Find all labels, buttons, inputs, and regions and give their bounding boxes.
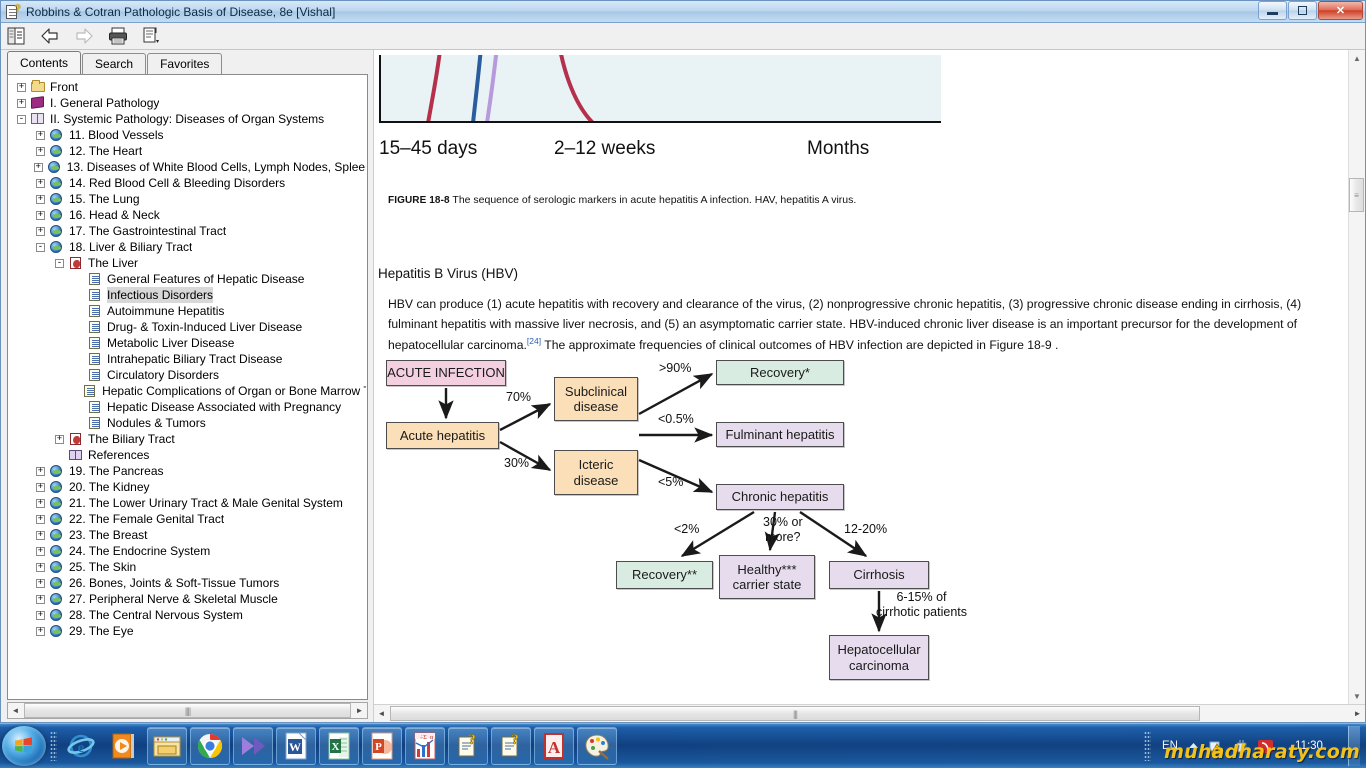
toc-node-label: Front [50, 79, 78, 95]
toc-node-label: 26. Bones, Joints & Soft-Tissue Tumors [69, 575, 279, 591]
taskbar-powerpoint[interactable]: P [362, 727, 402, 765]
toc-expand-icon[interactable]: + [36, 131, 45, 140]
chapter-globe-icon [49, 224, 65, 238]
toc-node[interactable]: Circulatory Disorders [9, 367, 366, 383]
start-button[interactable] [2, 726, 46, 766]
toc-expand-icon[interactable]: + [36, 195, 45, 204]
forward-arrow-icon[interactable] [73, 25, 95, 47]
system-tray: EN 11:30 [1140, 726, 1366, 766]
flow-edge-label-pct-gt90: >90% [659, 361, 691, 376]
toc-node-label: 11. Blood Vessels [69, 127, 164, 143]
toc-node-label: 22. The Female Genital Tract [69, 511, 224, 527]
toc-expand-icon[interactable]: + [36, 563, 45, 572]
svg-text:A: A [548, 738, 561, 757]
toc-collapse-icon[interactable]: - [36, 243, 45, 252]
chapter-globe-icon [49, 176, 65, 190]
toc-node-label: Hepatic Complications of Organ or Bone M… [102, 383, 366, 399]
toc-node[interactable]: Autoimmune Hepatitis [9, 303, 366, 319]
restore-button[interactable] [1288, 1, 1317, 20]
topic-page-icon [87, 352, 103, 366]
tab-search-label: Search [95, 57, 133, 71]
tab-favorites[interactable]: Favorites [147, 53, 222, 74]
chapter-globe-icon [49, 496, 65, 510]
toc-node[interactable]: +29. The Eye [9, 623, 366, 639]
toc-node[interactable]: +11. Blood Vessels [9, 127, 366, 143]
toc-node-label: 15. The Lung [69, 191, 140, 207]
liver-icon [68, 432, 84, 446]
svg-text:P: P [375, 741, 382, 753]
flow-edge-label-pct-6-15: 6-15% of cirrhotic patients [876, 590, 967, 620]
toc-node-label: II. Systemic Pathology: Diseases of Orga… [50, 111, 324, 127]
flow-node-acute-hepatitis: Acute hepatitis [386, 422, 499, 449]
timeline-label-2: 2–12 weeks [554, 138, 655, 160]
toc-node-label: 19. The Pancreas [69, 463, 164, 479]
toc-expand-icon[interactable]: + [36, 147, 45, 156]
toc-node[interactable]: +21. The Lower Urinary Tract & Male Geni… [9, 495, 366, 511]
toc-node[interactable]: +25. The Skin [9, 559, 366, 575]
toc-expand-icon[interactable]: + [36, 499, 45, 508]
toc-expand-icon[interactable]: + [36, 227, 45, 236]
taskbar-word[interactable]: W [276, 727, 316, 765]
flow-edge-label-pct-70: 70% [506, 390, 531, 405]
flow-node-label: ACUTE INFECTION [387, 365, 505, 380]
toc-expand-icon[interactable]: + [36, 467, 45, 476]
flow-node-healthy-carrier: Healthy*** carrier state [719, 555, 815, 599]
chapter-globe-icon [49, 544, 65, 558]
doc-scroll-up-icon[interactable]: ▲ [1349, 50, 1365, 66]
toc-node-label: 17. The Gastrointestinal Tract [69, 223, 226, 239]
flow-node-label: Recovery** [632, 567, 697, 582]
toc-node[interactable]: +27. Peripheral Nerve & Skeletal Muscle [9, 591, 366, 607]
flow-node-recovery-1: Recovery* [716, 360, 844, 385]
toc-node-label: Hepatic Disease Associated with Pregnanc… [107, 399, 341, 415]
toc-node-label: Autoimmune Hepatitis [107, 303, 224, 319]
toc-leaf-spacer [74, 339, 83, 348]
flow-edge-label-pct-lt2: <2% [674, 522, 699, 537]
timeline-label-3: Months [807, 138, 869, 160]
folder-icon [30, 80, 46, 94]
figure-18-8-caption: FIGURE 18-8 The sequence of serologic ma… [388, 193, 1248, 209]
toc-node-label: Circulatory Disorders [107, 367, 219, 383]
toc-node-label: 12. The Heart [69, 143, 142, 159]
windows-taskbar: e [0, 723, 1366, 768]
toc-node[interactable]: Hepatic Disease Associated with Pregnanc… [9, 399, 366, 415]
figure-18-8-label: FIGURE 18-8 [388, 195, 450, 206]
options-icon[interactable] [141, 25, 163, 47]
toc-node-label: Drug- & Toxin-Induced Liver Disease [107, 319, 302, 335]
toc-leaf-spacer [74, 419, 83, 428]
timeline-label-1: 15–45 days [379, 138, 477, 160]
toc-tree: +Front+I. General Pathology-II. Systemic… [9, 76, 366, 698]
toc-node[interactable]: General Features of Hepatic Disease [9, 271, 366, 287]
figure-18-8-text: The sequence of serologic markers in acu… [452, 194, 856, 206]
flow-node-fulminant-hepatitis: Fulminant hepatitis [716, 422, 844, 447]
toc-node-label: References [88, 447, 149, 463]
toc-node[interactable]: +19. The Pancreas [9, 463, 366, 479]
toc-expand-icon[interactable]: + [36, 211, 45, 220]
topic-page-icon [82, 384, 98, 398]
chapter-globe-icon [49, 608, 65, 622]
window-body: Contents Search Favorites +Front+I. Gene… [1, 50, 1365, 722]
flow-node-label: Icteric disease [574, 457, 619, 488]
serologic-marker-chart-remnant [379, 55, 941, 123]
toc-node-label: Infectious Disorders [107, 287, 213, 303]
flow-node-label: Fulminant hepatitis [725, 427, 834, 442]
content-pane: 15–45 days 2–12 weeks Months FIGURE 18-8… [373, 50, 1365, 722]
topic-page-icon [87, 336, 103, 350]
network-warning-icon[interactable] [1209, 738, 1226, 755]
hbv-paragraph: HBV can produce (1) acute hepatitis with… [388, 295, 1325, 355]
toc-node[interactable]: +I. General Pathology [9, 95, 366, 111]
svg-text:e: e [78, 740, 85, 756]
toc-node-label: 23. The Breast [69, 527, 148, 543]
flow-node-cirrhosis: Cirrhosis [829, 561, 929, 589]
toc-horizontal-scrollbar[interactable]: ◄ |||| ► [7, 702, 368, 719]
citation-link-24[interactable]: [24] [527, 336, 541, 346]
toc-tree-container: +Front+I. General Pathology-II. Systemic… [7, 74, 368, 700]
toc-node[interactable]: -II. Systemic Pathology: Diseases of Org… [9, 111, 366, 127]
clock-time: 11:30 [1281, 739, 1337, 753]
tab-search[interactable]: Search [82, 53, 146, 74]
show-hidden-icons-chevron-icon[interactable] [1185, 738, 1202, 755]
document-body: 15–45 days 2–12 weeks Months FIGURE 18-8… [374, 50, 1348, 704]
toc-expand-icon[interactable]: + [55, 435, 64, 444]
window-title: Robbins & Cotran Pathologic Basis of Dis… [26, 5, 335, 19]
flowchart-connectors [386, 350, 1086, 695]
taskbar-chrome[interactable] [190, 727, 230, 765]
chapter-globe-icon [49, 576, 65, 590]
toc-node[interactable]: +16. Head & Neck [9, 207, 366, 223]
taskbar-internet-explorer[interactable]: e [61, 727, 101, 765]
toc-node[interactable]: Metabolic Liver Disease [9, 335, 366, 351]
toc-node-label: 27. Peripheral Nerve & Skeletal Muscle [69, 591, 278, 607]
toc-node-label: Metabolic Liver Disease [107, 335, 234, 351]
flow-edge-label-pct-30-more: 30% or more? [763, 515, 803, 545]
taskbar-media-player[interactable] [104, 727, 144, 765]
flow-edge-label-pct-lt05: <0.5% [658, 412, 694, 427]
help-viewer-window: ? Robbins & Cotran Pathologic Basis of D… [0, 0, 1366, 723]
document-vertical-scrollbar[interactable]: ▲ ≡ ▼ [1348, 50, 1365, 704]
flow-node-label: Hepatocellular carcinoma [837, 642, 920, 673]
toc-node[interactable]: +17. The Gastrointestinal Tract [9, 223, 366, 239]
flow-edge-label-pct-lt5: <5% [658, 475, 683, 490]
minimize-button[interactable] [1258, 1, 1287, 20]
book-icon [30, 96, 46, 110]
window-titlebar: ? Robbins & Cotran Pathologic Basis of D… [1, 1, 1365, 23]
toc-node-label: 29. The Eye [69, 623, 134, 639]
toc-expand-icon[interactable]: + [36, 595, 45, 604]
taskbar-help-1[interactable]: ? [448, 727, 488, 765]
toc-expand-icon[interactable]: + [36, 515, 45, 524]
topic-page-icon [87, 288, 103, 302]
navigation-pane: Contents Search Favorites +Front+I. Gene… [1, 50, 373, 722]
section-heading-hbv: Hepatitis B Virus (HBV) [378, 266, 518, 281]
toc-node[interactable]: Drug- & Toxin-Induced Liver Disease [9, 319, 366, 335]
chapter-globe-icon [47, 160, 63, 174]
toc-node[interactable]: +28. The Central Nervous System [9, 607, 366, 623]
tab-contents[interactable]: Contents [7, 51, 81, 74]
nav-tabs: Contents Search Favorites [1, 50, 373, 74]
toc-node-label: 16. Head & Neck [69, 207, 160, 223]
flow-node-recovery-2: Recovery** [616, 561, 713, 589]
flow-node-label: Chronic hepatitis [732, 489, 829, 504]
tab-contents-label: Contents [20, 56, 68, 70]
close-button[interactable]: ✕ [1318, 1, 1363, 20]
chapter-globe-icon [49, 592, 65, 606]
toc-leaf-spacer [74, 403, 83, 412]
figure-18-9-flowchart: ACUTE INFECTIONAcute hepatitisSubclinica… [386, 350, 1346, 695]
toc-expand-icon[interactable]: + [17, 83, 26, 92]
toc-expand-icon[interactable]: + [36, 531, 45, 540]
topic-page-icon [87, 416, 103, 430]
toc-node-label: 14. Red Blood Cell & Bleeding Disorders [69, 175, 285, 191]
flow-node-label: Subclinical disease [565, 384, 627, 415]
toc-node[interactable]: Infectious Disorders [9, 287, 366, 303]
toc-leaf-spacer [74, 371, 83, 380]
chapter-globe-icon [49, 128, 65, 142]
tray-grip[interactable] [1144, 731, 1151, 761]
document-horizontal-scrollbar[interactable]: ◄ ||| ► [374, 704, 1365, 722]
svg-text:÷Σ: ÷Σ [420, 735, 427, 741]
toc-node[interactable]: +13. Diseases of White Blood Cells, Lymp… [9, 159, 366, 175]
topic-page-icon [87, 368, 103, 382]
doc-scroll-down-icon[interactable]: ▼ [1349, 688, 1365, 704]
taskbar-acrobat[interactable]: A [534, 727, 574, 765]
toc-expand-icon[interactable]: + [36, 547, 45, 556]
safely-remove-hardware-icon[interactable] [1233, 738, 1250, 755]
taskbar-grip[interactable] [50, 731, 57, 761]
toc-expand-icon[interactable]: + [36, 579, 45, 588]
chapter-globe-icon [49, 560, 65, 574]
chapter-globe-icon [49, 464, 65, 478]
flow-node-label: Healthy*** carrier state [733, 562, 802, 593]
flow-node-acute-infection: ACUTE INFECTION [386, 360, 506, 386]
toc-node[interactable]: +20. The Kidney [9, 479, 366, 495]
taskbar-paint[interactable] [577, 727, 617, 765]
toc-leaf-spacer [74, 307, 83, 316]
toc-node-label: 28. The Central Nervous System [69, 607, 243, 623]
flow-node-label: Recovery* [750, 365, 810, 380]
svg-text:X: X [332, 741, 340, 753]
toc-leaf-spacer [74, 291, 83, 300]
toc-node[interactable]: +23. The Breast [9, 527, 366, 543]
flow-edge-label-pct-12-20: 12-20% [844, 522, 887, 537]
toc-leaf-spacer [69, 387, 78, 396]
toc-expand-icon[interactable]: + [34, 163, 43, 172]
chapter-globe-icon [49, 144, 65, 158]
toc-node[interactable]: Intrahepatic Biliary Tract Disease [9, 351, 366, 367]
svg-text:?: ? [511, 732, 519, 748]
doc-scroll-right-icon[interactable]: ► [1350, 706, 1365, 721]
toc-expand-icon[interactable]: + [17, 99, 26, 108]
language-indicator[interactable]: EN [1162, 740, 1178, 752]
toc-collapse-icon[interactable]: - [55, 259, 64, 268]
toc-node[interactable]: +Front [9, 79, 366, 95]
tab-favorites-label: Favorites [160, 57, 209, 71]
toc-node-label: I. General Pathology [50, 95, 159, 111]
toc-node[interactable]: +The Biliary Tract [9, 431, 366, 447]
chart-timeline-labels: 15–45 days 2–12 weeks Months [379, 138, 1079, 166]
references-icon [68, 448, 84, 462]
doc-scroll-left-icon[interactable]: ◄ [374, 706, 389, 721]
taskbar-spss[interactable]: ÷Σ α [405, 727, 445, 765]
chapter-globe-icon [49, 528, 65, 542]
toc-expand-icon[interactable]: + [36, 627, 45, 636]
toc-node[interactable]: +26. Bones, Joints & Soft-Tissue Tumors [9, 575, 366, 591]
topic-page-icon [87, 272, 103, 286]
flow-node-chronic-hepatitis: Chronic hepatitis [716, 484, 844, 510]
flow-node-label: Acute hepatitis [400, 428, 485, 443]
clock[interactable]: 11:30 [1281, 739, 1337, 753]
toc-node-label: Intrahepatic Biliary Tract Disease [107, 351, 282, 367]
toc-node-label: General Features of Hepatic Disease [107, 271, 304, 287]
toc-node-label: 13. Diseases of White Blood Cells, Lymph… [67, 159, 366, 175]
doc-hscroll-thumb[interactable]: ||| [390, 706, 1200, 721]
chapter-globe-icon [49, 480, 65, 494]
taskbar-excel[interactable]: X [319, 727, 359, 765]
document-area: 15–45 days 2–12 weeks Months FIGURE 18-8… [374, 50, 1365, 704]
taskbar-file-explorer[interactable] [147, 727, 187, 765]
flow-node-hepatocellular-ca: Hepatocellular carcinoma [829, 635, 929, 680]
toc-scroll-right-icon[interactable]: ► [352, 703, 367, 718]
toc-expand-icon[interactable]: + [36, 611, 45, 620]
taskbar-movie-maker[interactable] [233, 727, 273, 765]
toc-node[interactable]: +22. The Female Genital Tract [9, 511, 366, 527]
toc-expand-icon[interactable]: + [36, 483, 45, 492]
toc-leaf-spacer [74, 323, 83, 332]
svg-text:W: W [289, 740, 301, 754]
toc-leaf-spacer [74, 275, 83, 284]
flow-node-label: Cirrhosis [853, 567, 904, 582]
toc-node[interactable]: +15. The Lung [9, 191, 366, 207]
windows-flag-icon [14, 737, 33, 754]
chapter-globe-icon [49, 512, 65, 526]
antivirus-icon[interactable] [1257, 738, 1274, 755]
toc-leaf-spacer [74, 355, 83, 364]
topic-page-icon [87, 400, 103, 414]
show-desktop-button[interactable] [1348, 726, 1360, 766]
liver-icon [68, 256, 84, 270]
help-toolbar [1, 23, 1365, 50]
toc-node[interactable]: -The Liver [9, 255, 366, 271]
chapter-globe-icon [49, 240, 65, 254]
help-book-icon: ? [5, 4, 21, 20]
chapter-globe-icon [49, 192, 65, 206]
back-arrow-icon[interactable] [39, 25, 61, 47]
toc-collapse-icon[interactable]: - [17, 115, 26, 124]
toc-node-label: 24. The Endocrine System [69, 543, 210, 559]
topic-page-icon [87, 320, 103, 334]
svg-text:?: ? [468, 732, 476, 748]
flow-edge-label-pct-30: 30% [504, 456, 529, 471]
toc-node[interactable]: +24. The Endocrine System [9, 543, 366, 559]
toc-node-label: 18. Liver & Biliary Tract [69, 239, 192, 255]
hide-toc-icon[interactable] [5, 25, 27, 47]
toc-scroll-left-icon[interactable]: ◄ [8, 703, 23, 718]
print-icon[interactable] [107, 25, 129, 47]
taskbar-help-2[interactable]: ? [491, 727, 531, 765]
topic-page-icon [87, 304, 103, 318]
window-controls: ✕ [1257, 1, 1363, 22]
open-book-icon [30, 112, 46, 126]
toc-scroll-thumb[interactable]: |||| [24, 703, 351, 718]
toc-leaf-spacer [55, 451, 64, 460]
taskbar-items: e [61, 727, 617, 765]
toc-node-label: The Biliary Tract [88, 431, 175, 447]
toc-node[interactable]: +14. Red Blood Cell & Bleeding Disorders [9, 175, 366, 191]
toc-node-label: 25. The Skin [69, 559, 136, 575]
chapter-globe-icon [49, 208, 65, 222]
flow-node-subclinical-disease: Subclinical disease [554, 377, 638, 421]
chapter-globe-icon [49, 624, 65, 638]
toc-node-label: The Liver [88, 255, 138, 271]
toc-node[interactable]: -18. Liver & Biliary Tract [9, 239, 366, 255]
toc-node-label: 20. The Kidney [69, 479, 150, 495]
flow-node-icteric-disease: Icteric disease [554, 450, 638, 495]
toc-node-label: Nodules & Tumors [107, 415, 206, 431]
toc-node[interactable]: +12. The Heart [9, 143, 366, 159]
doc-vscroll-thumb[interactable]: ≡ [1349, 178, 1364, 212]
toc-node[interactable]: Nodules & Tumors [9, 415, 366, 431]
doc-vscroll-track[interactable]: ≡ [1349, 66, 1365, 688]
toc-node[interactable]: References [9, 447, 366, 463]
toc-node-label: 21. The Lower Urinary Tract & Male Genit… [69, 495, 343, 511]
toc-node[interactable]: Hepatic Complications of Organ or Bone M… [9, 383, 366, 399]
toc-expand-icon[interactable]: + [36, 179, 45, 188]
